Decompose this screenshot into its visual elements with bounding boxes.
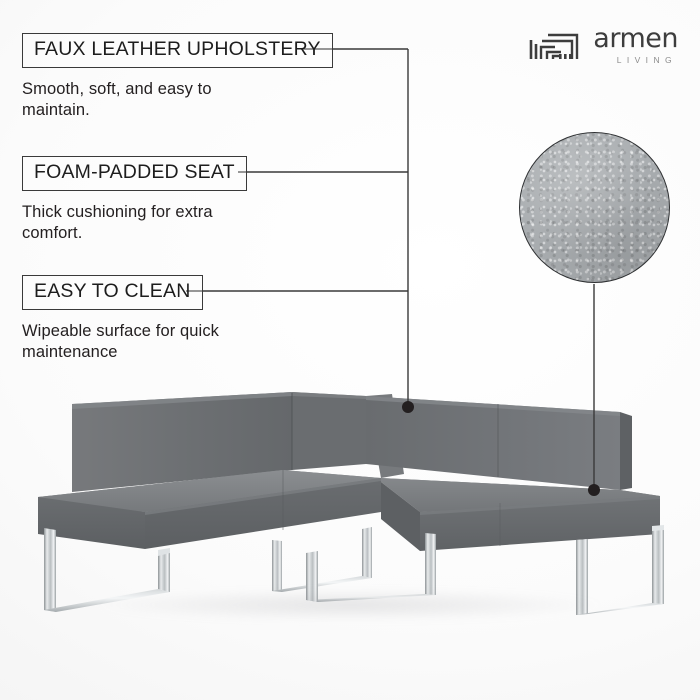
bench-back-right	[366, 396, 632, 490]
callout-easy-to-clean: EASY TO CLEAN Wipeable surface for quick…	[22, 275, 272, 364]
callout-box-3: EASY TO CLEAN	[22, 275, 203, 310]
leather-texture-swatch	[519, 132, 670, 283]
brand-tagline: LIVING	[593, 55, 678, 65]
callout-title-1: FAUX LEATHER UPHOLSTERY	[34, 40, 321, 60]
callout-foam-padded-seat: FOAM-PADDED SEAT Thick cushioning for ex…	[22, 156, 272, 245]
callout-faux-leather: FAUX LEATHER UPHOLSTERY Smooth, soft, an…	[22, 33, 333, 122]
brand-logo: armen LIVING	[528, 26, 678, 65]
swatch-shading	[520, 133, 669, 282]
callout-box-1: FAUX LEATHER UPHOLSTERY	[22, 33, 333, 68]
callout-box-2: FOAM-PADDED SEAT	[22, 156, 247, 191]
logo-wordmark: armen LIVING	[593, 26, 678, 65]
armen-logo-mark-icon	[528, 28, 584, 62]
callout-body-2: Thick cushioning for extra comfort.	[22, 202, 272, 246]
floor-shadow	[30, 585, 670, 625]
callout-body-3: Wipeable surface for quick maintenance	[22, 321, 272, 365]
infographic-canvas: FAUX LEATHER UPHOLSTERY Smooth, soft, an…	[0, 0, 700, 700]
brand-name: armen	[593, 26, 678, 52]
callout-body-1: Smooth, soft, and easy to maintain.	[22, 79, 272, 123]
callout-title-2: FOAM-PADDED SEAT	[34, 163, 235, 183]
callout-title-3: EASY TO CLEAN	[34, 282, 191, 302]
